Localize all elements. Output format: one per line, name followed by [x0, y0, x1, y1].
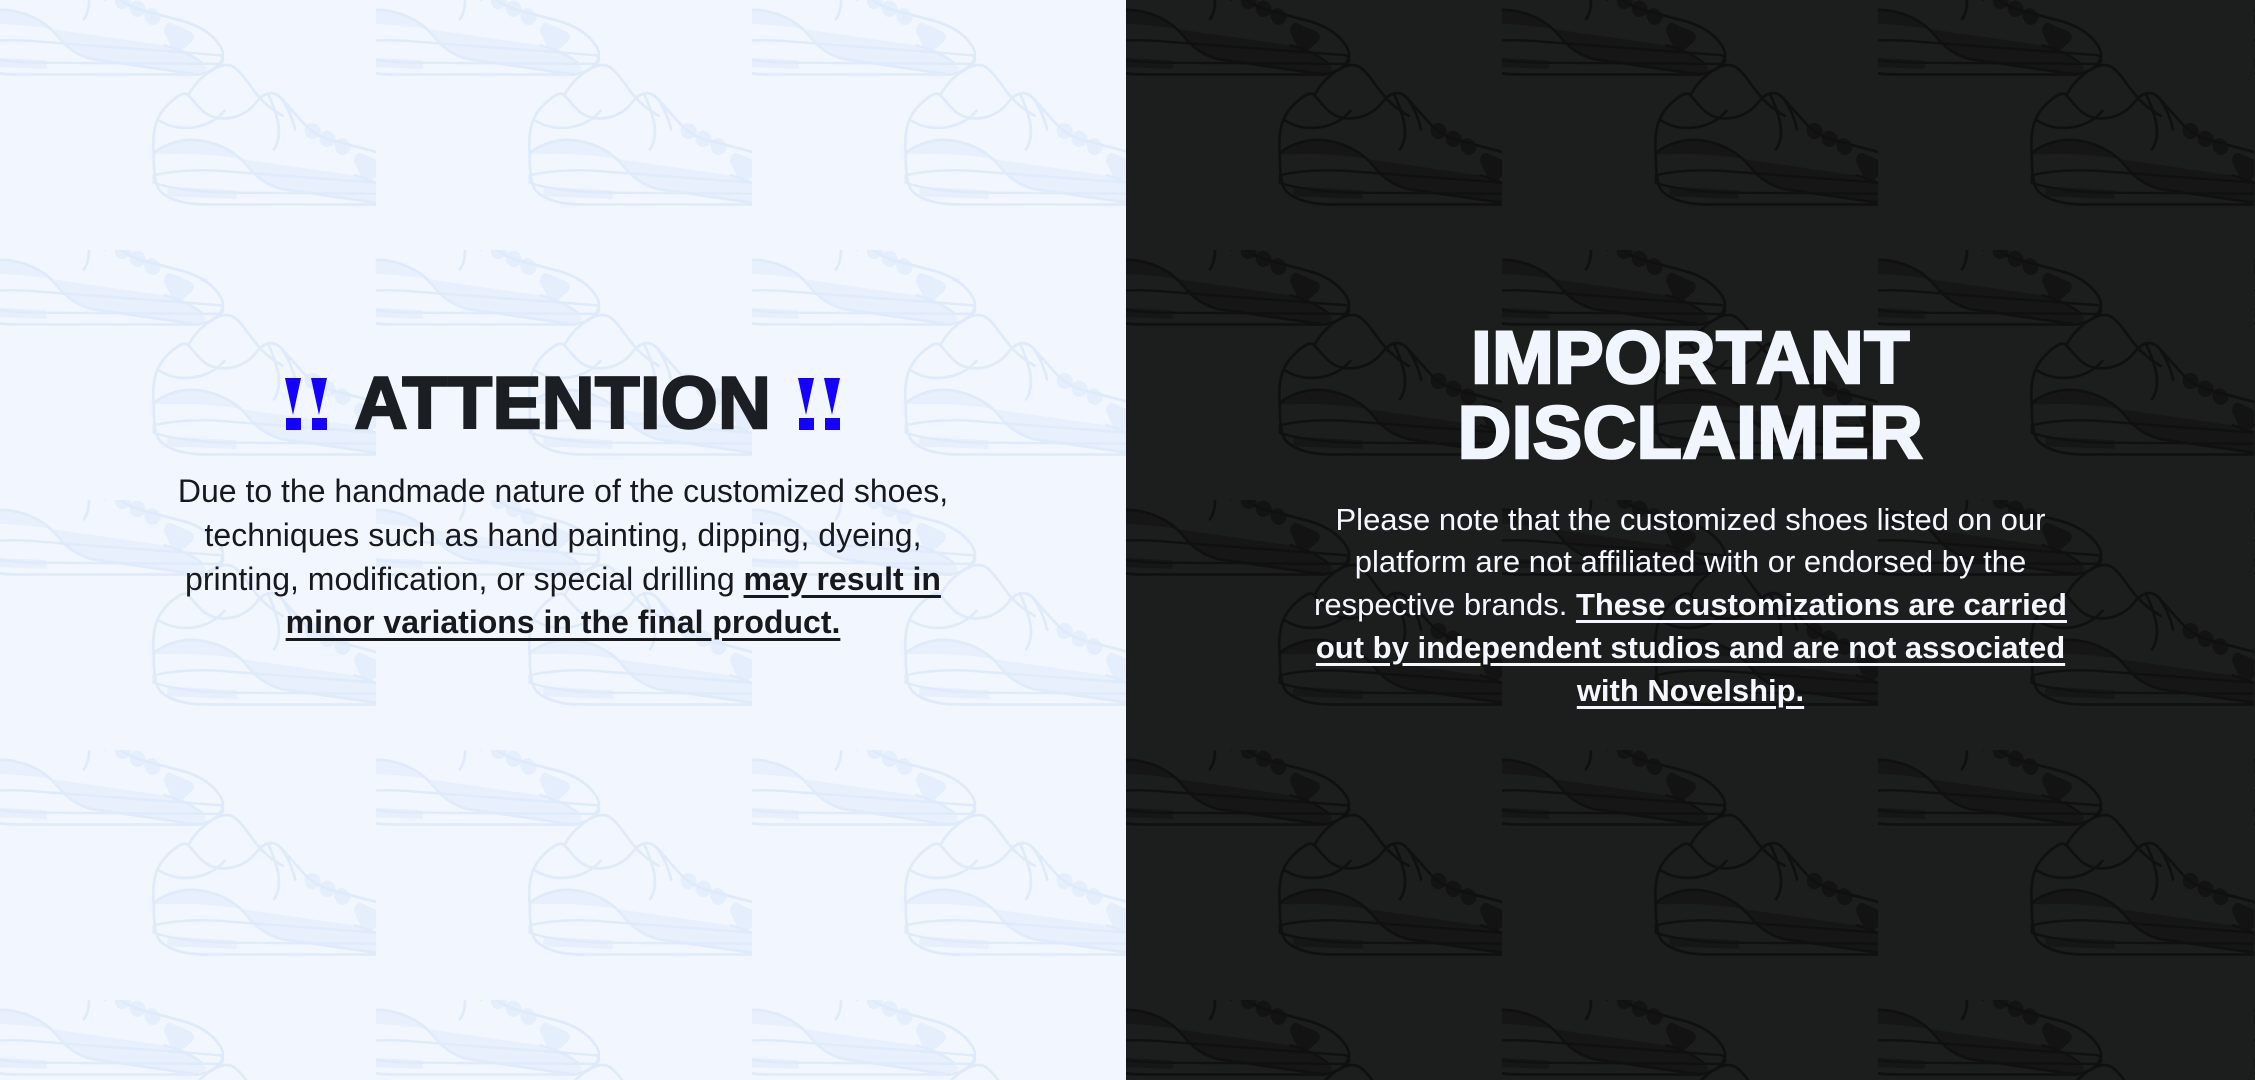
disclaimer-panel: IMPORTANT DISCLAIMER Please note that th…: [1126, 0, 2255, 1080]
attention-body: Due to the handmade nature of the custom…: [168, 470, 958, 644]
disclaimer-heading-line1: IMPORTANT: [1471, 316, 1910, 399]
attention-heading: ATTENTION: [284, 367, 843, 440]
double-exclamation-icon-right: [797, 378, 842, 430]
disclaimer-heading-line2: DISCLAIMER: [1458, 391, 1923, 474]
disclaimer-banner: ATTENTION Due to the handmade nature of …: [0, 0, 2255, 1080]
attention-heading-text: ATTENTION: [355, 367, 772, 440]
double-exclamation-icon-left: [284, 378, 329, 430]
disclaimer-heading: IMPORTANT DISCLAIMER: [1458, 320, 1923, 471]
disclaimer-body: Please note that the customized shoes li…: [1291, 499, 2091, 713]
attention-panel: ATTENTION Due to the handmade nature of …: [0, 0, 1126, 1080]
